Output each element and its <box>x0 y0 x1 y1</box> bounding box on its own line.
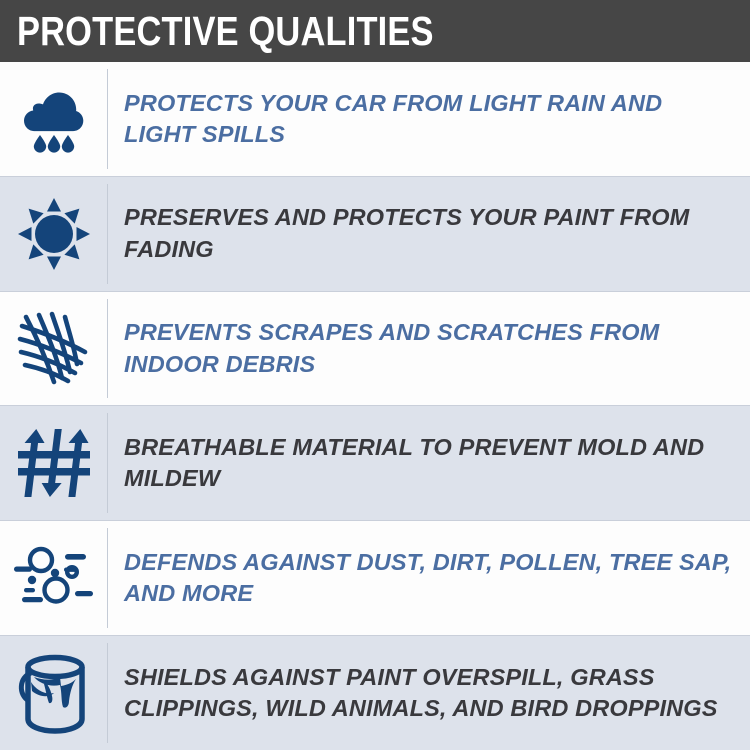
feature-row: BREATHABLE MATERIAL TO PREVENT MOLD AND … <box>0 406 750 521</box>
mesh-net-icon <box>13 308 95 390</box>
rain-cloud-icon <box>16 81 92 157</box>
icon-cell <box>0 177 108 291</box>
dust-particles-icon <box>12 542 96 614</box>
text-cell: SHIELDS AGAINST PAINT OVERSPILL, GRASS C… <box>108 636 750 750</box>
feature-row: PREVENTS SCRAPES AND SCRATCHES FROM INDO… <box>0 292 750 407</box>
feature-text: PROTECTS YOUR CAR FROM LIGHT RAIN AND LI… <box>124 88 736 151</box>
paint-can-icon <box>14 651 94 735</box>
feature-list: PROTECTS YOUR CAR FROM LIGHT RAIN AND LI… <box>0 62 750 750</box>
text-cell: PRESERVES AND PROTECTS YOUR PAINT FROM F… <box>108 177 750 291</box>
icon-cell <box>0 292 108 406</box>
protective-qualities-infographic: PROTECTIVE QUALITIES PROTECTS YOUR CAR F… <box>0 0 750 750</box>
breathable-airflow-icon <box>14 423 94 503</box>
icon-cell <box>0 636 108 750</box>
text-cell: BREATHABLE MATERIAL TO PREVENT MOLD AND … <box>108 406 750 520</box>
text-cell: DEFENDS AGAINST DUST, DIRT, POLLEN, TREE… <box>108 521 750 635</box>
feature-text: BREATHABLE MATERIAL TO PREVENT MOLD AND … <box>124 432 736 495</box>
icon-cell <box>0 62 108 176</box>
feature-text: DEFENDS AGAINST DUST, DIRT, POLLEN, TREE… <box>124 547 736 610</box>
feature-row: PRESERVES AND PROTECTS YOUR PAINT FROM F… <box>0 177 750 292</box>
header-bar: PROTECTIVE QUALITIES <box>0 0 750 62</box>
icon-cell <box>0 406 108 520</box>
feature-row: DEFENDS AGAINST DUST, DIRT, POLLEN, TREE… <box>0 521 750 636</box>
feature-text: PRESERVES AND PROTECTS YOUR PAINT FROM F… <box>124 202 736 265</box>
text-cell: PREVENTS SCRAPES AND SCRATCHES FROM INDO… <box>108 292 750 406</box>
feature-text: PREVENTS SCRAPES AND SCRATCHES FROM INDO… <box>124 317 736 380</box>
page-title: PROTECTIVE QUALITIES <box>17 11 434 52</box>
feature-row: SHIELDS AGAINST PAINT OVERSPILL, GRASS C… <box>0 636 750 750</box>
feature-row: PROTECTS YOUR CAR FROM LIGHT RAIN AND LI… <box>0 62 750 177</box>
text-cell: PROTECTS YOUR CAR FROM LIGHT RAIN AND LI… <box>108 62 750 176</box>
icon-cell <box>0 521 108 635</box>
feature-text: SHIELDS AGAINST PAINT OVERSPILL, GRASS C… <box>124 662 736 725</box>
sun-icon <box>16 196 92 272</box>
